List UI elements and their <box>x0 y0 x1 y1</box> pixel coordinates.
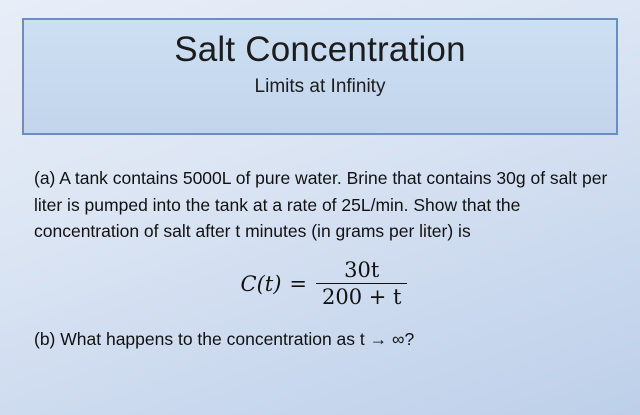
formula-denominator: 200 + t <box>316 284 407 309</box>
slide-body: (a) A tank contains 5000L of pure water.… <box>34 165 614 350</box>
formula-numerator: 30t <box>338 259 385 283</box>
title-box: Salt Concentration Limits at Infinity <box>22 18 618 135</box>
page-title: Salt Concentration <box>174 30 466 70</box>
formula-lhs: C(t) <box>241 272 282 296</box>
formula-equals: = <box>289 272 307 296</box>
formula-fraction: 30t 200 + t <box>316 259 407 310</box>
slide: Salt Concentration Limits at Infinity (a… <box>0 0 640 415</box>
problem-part-b: (b) What happens to the concentration as… <box>34 329 614 350</box>
formula-expression: C(t) = 30t 200 + t <box>241 259 408 310</box>
formula-block: C(t) = 30t 200 + t <box>34 259 614 310</box>
page-subtitle: Limits at Infinity <box>255 76 386 98</box>
problem-part-a: (a) A tank contains 5000L of pure water.… <box>34 165 614 245</box>
